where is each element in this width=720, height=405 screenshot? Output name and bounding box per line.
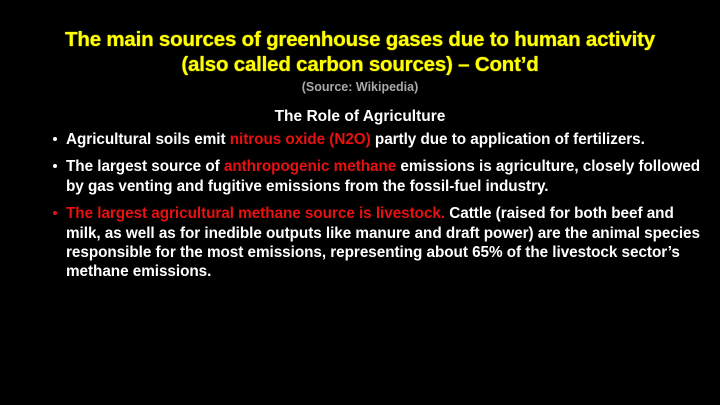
bullet-segment: partly due to application of fertilizers… bbox=[371, 131, 645, 148]
bullet-segment-highlight: The largest agricultural methane source … bbox=[66, 205, 445, 222]
bullet-segment-highlight: nitrous oxide (N2O) bbox=[230, 131, 371, 148]
list-item: The largest source of anthropogenic meth… bbox=[44, 157, 704, 196]
bullet-dot-icon bbox=[53, 211, 57, 215]
bullet-segment: The largest source of bbox=[66, 158, 224, 175]
presentation-slide: The main sources of greenhouse gases due… bbox=[0, 0, 720, 405]
list-item: Agricultural soils emit nitrous oxide (N… bbox=[44, 130, 704, 149]
bullet-dot-icon bbox=[53, 137, 57, 141]
title-block: The main sources of greenhouse gases due… bbox=[50, 27, 670, 95]
bullet-dot-icon bbox=[53, 164, 57, 168]
bullet-list: Agricultural soils emit nitrous oxide (N… bbox=[44, 130, 704, 282]
page-title: The main sources of greenhouse gases due… bbox=[50, 27, 670, 77]
bullet-segment-highlight: anthropogenic methane bbox=[224, 158, 396, 175]
list-item: The largest agricultural methane source … bbox=[44, 204, 704, 282]
source-attribution: (Source: Wikipedia) bbox=[50, 79, 670, 95]
bullet-segment: Agricultural soils emit bbox=[66, 131, 230, 148]
section-heading: The Role of Agriculture bbox=[50, 107, 670, 126]
